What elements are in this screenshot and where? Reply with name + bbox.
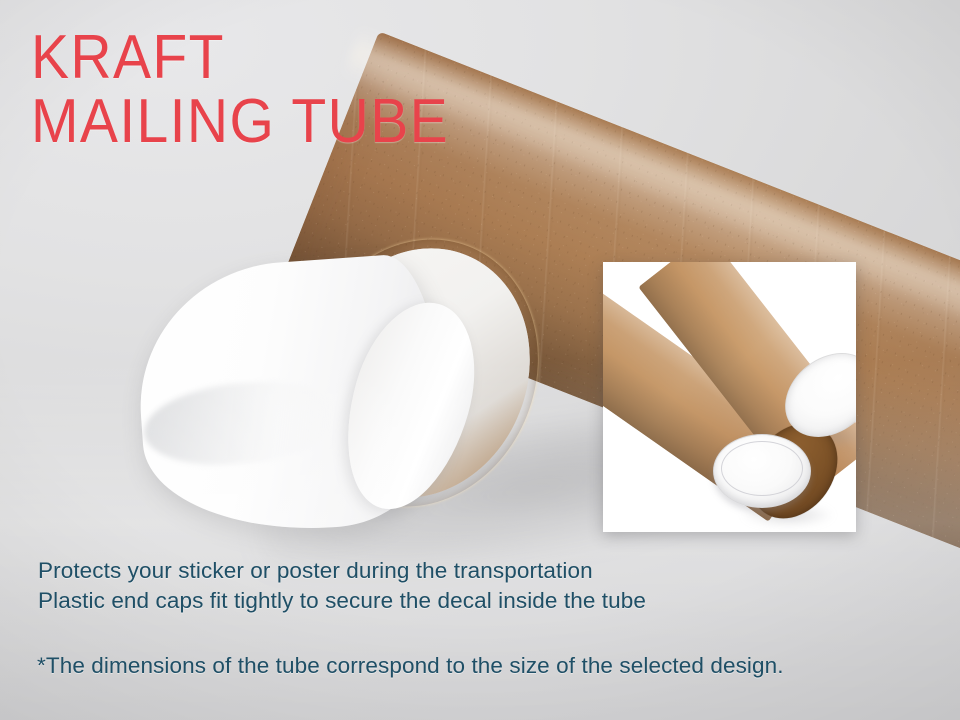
white-poster-sheet	[131, 252, 449, 540]
feature-description: Protects your sticker or poster during t…	[38, 556, 646, 616]
dimensions-footnote: *The dimensions of the tube correspond t…	[37, 652, 784, 680]
tube-golden-rim	[261, 204, 577, 542]
inset-loose-end-cap	[713, 434, 811, 508]
inset-canvas	[603, 262, 856, 532]
poster-cast-shadow	[120, 400, 460, 550]
poster-curl-edge	[325, 288, 495, 524]
tube-interior	[272, 215, 566, 530]
tube-opening	[272, 215, 566, 530]
product-poster: KRAFT MAILING TUBE Protects your sticker…	[0, 0, 960, 720]
page-title: KRAFT MAILING TUBE	[31, 26, 449, 154]
inset-product-photo	[603, 262, 856, 532]
